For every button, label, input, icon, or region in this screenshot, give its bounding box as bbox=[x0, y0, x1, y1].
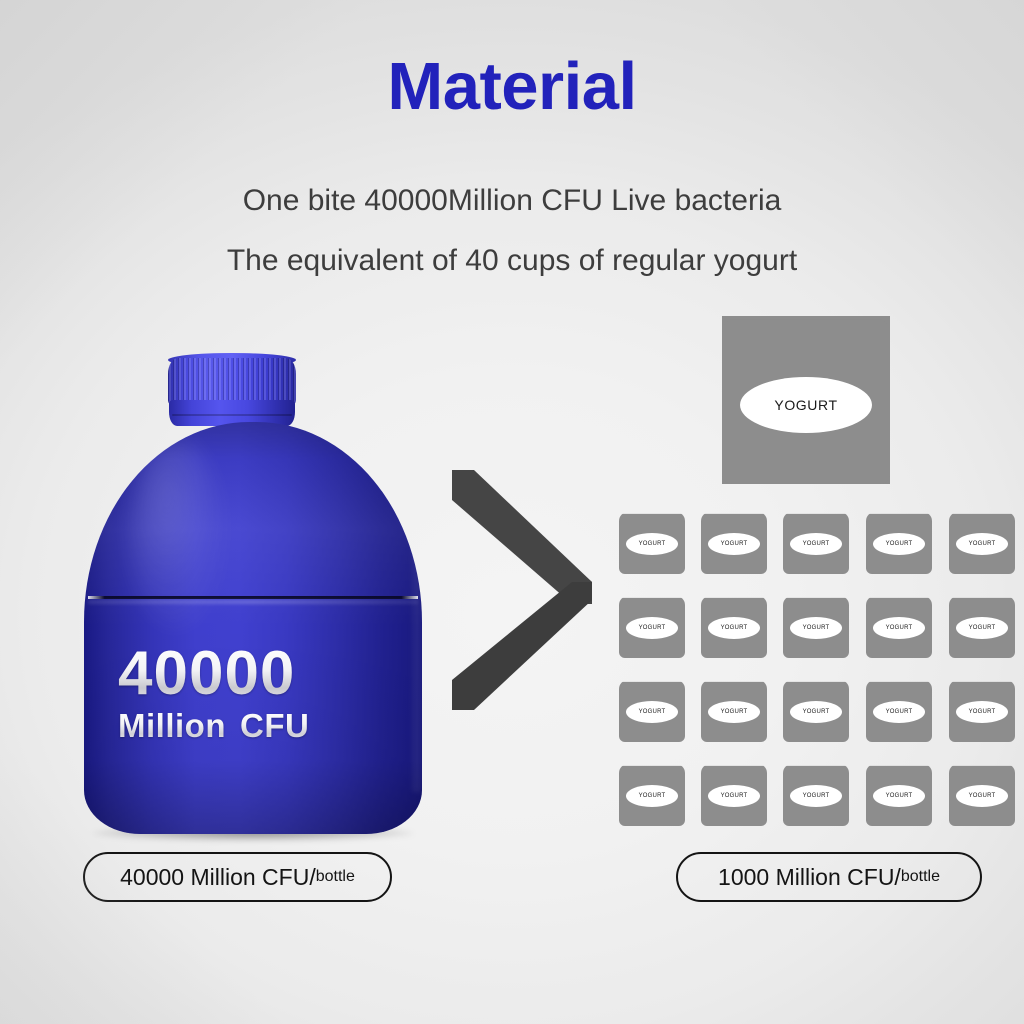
yogurt-cup-label-text: YOGURT bbox=[803, 793, 830, 799]
yogurt-cup-label-oval: YOGURT bbox=[708, 701, 760, 723]
yogurt-cup-small: YOGURT bbox=[783, 512, 849, 574]
yogurt-cup-label-text: YOGURT bbox=[721, 793, 748, 799]
yogurt-cup-label-text: YOGURT bbox=[774, 397, 837, 413]
yogurt-cup-small: YOGURT bbox=[949, 680, 1015, 742]
yogurt-cup-label-text: YOGURT bbox=[969, 709, 996, 715]
bottle-cap-ribbed bbox=[168, 358, 296, 406]
yogurt-cup-label-oval: YOGURT bbox=[626, 617, 678, 639]
yogurt-cup-small: YOGURT bbox=[949, 596, 1015, 658]
yogurt-cup-label-text: YOGURT bbox=[639, 625, 666, 631]
yogurt-cup-label-oval: YOGURT bbox=[956, 785, 1008, 807]
yogurt-cup-label-text: YOGURT bbox=[969, 625, 996, 631]
yogurt-cup-label-text: YOGURT bbox=[639, 709, 666, 715]
yogurt-cup-label-oval: YOGURT bbox=[708, 785, 760, 807]
caption-right-unit: bottle bbox=[901, 868, 940, 886]
yogurt-cup-label-text: YOGURT bbox=[721, 709, 748, 715]
yogurt-cup-label-oval: YOGURT bbox=[626, 701, 678, 723]
bottle-seam-gloss bbox=[88, 600, 418, 604]
subtitle-line-1: One bite 40000Million CFU Live bacteria bbox=[0, 186, 1024, 216]
yogurt-cup-label-oval: YOGURT bbox=[873, 701, 925, 723]
yogurt-cup-small: YOGURT bbox=[866, 764, 932, 826]
bottle-right-rim-highlight bbox=[410, 462, 420, 792]
yogurt-cup-label-text: YOGURT bbox=[721, 625, 748, 631]
yogurt-cup-small: YOGURT bbox=[701, 680, 767, 742]
yogurt-cup-small: YOGURT bbox=[619, 764, 685, 826]
yogurt-cup-label-text: YOGURT bbox=[721, 541, 748, 547]
yogurt-cup-small: YOGURT bbox=[619, 680, 685, 742]
yogurt-cup-label-oval: YOGURT bbox=[790, 533, 842, 555]
yogurt-cup-small: YOGURT bbox=[619, 596, 685, 658]
bottle-label: 40000 MillionCFU bbox=[118, 644, 368, 742]
caption-right-value: 1000 Million CFU/ bbox=[718, 864, 901, 891]
yogurt-cup-small: YOGURT bbox=[866, 680, 932, 742]
probiotic-bottle-image: 40000 MillionCFU bbox=[84, 356, 422, 834]
yogurt-cup-label-oval: YOGURT bbox=[873, 785, 925, 807]
bottle-label-million: Million bbox=[118, 707, 226, 744]
bottle-collar-groove bbox=[172, 414, 292, 416]
yogurt-cup-grid: YOGURT YOGURT YOGURT YOGURT YOGURT YOGUR… bbox=[619, 512, 1015, 830]
yogurt-cup-label-oval: YOGURT bbox=[790, 617, 842, 639]
yogurt-cup-small: YOGURT bbox=[783, 596, 849, 658]
yogurt-cup-label-text: YOGURT bbox=[886, 541, 913, 547]
yogurt-cup-small: YOGURT bbox=[866, 596, 932, 658]
yogurt-cup-small: YOGURT bbox=[949, 764, 1015, 826]
caption-badge-yogurt: 1000 Million CFU/bottle bbox=[676, 852, 982, 902]
yogurt-cup-label-oval: YOGURT bbox=[956, 533, 1008, 555]
yogurt-cup-label-text: YOGURT bbox=[803, 709, 830, 715]
yogurt-cup-label-text: YOGURT bbox=[639, 541, 666, 547]
yogurt-cup-label-oval: YOGURT bbox=[873, 617, 925, 639]
yogurt-cup-label-text: YOGURT bbox=[969, 541, 996, 547]
bottle-seam-line bbox=[88, 596, 418, 599]
yogurt-cup-small: YOGURT bbox=[619, 512, 685, 574]
yogurt-cup-label-oval: YOGURT bbox=[956, 701, 1008, 723]
yogurt-cup-label-oval: YOGURT bbox=[740, 377, 872, 433]
greater-than-chevron-icon bbox=[452, 470, 592, 710]
bottle-label-number: 40000 bbox=[118, 644, 368, 705]
yogurt-cup-small: YOGURT bbox=[783, 680, 849, 742]
yogurt-cup-label-oval: YOGURT bbox=[790, 785, 842, 807]
yogurt-cup-label-text: YOGURT bbox=[803, 625, 830, 631]
yogurt-cup-label-oval: YOGURT bbox=[708, 617, 760, 639]
yogurt-cup-small: YOGURT bbox=[701, 764, 767, 826]
yogurt-cup-label-oval: YOGURT bbox=[873, 533, 925, 555]
yogurt-cup-small: YOGURT bbox=[701, 512, 767, 574]
yogurt-cup-label-text: YOGURT bbox=[969, 793, 996, 799]
yogurt-cup-label-text: YOGURT bbox=[886, 793, 913, 799]
caption-left-unit: bottle bbox=[316, 868, 355, 886]
page-title: Material bbox=[0, 53, 1024, 120]
yogurt-cup-small: YOGURT bbox=[701, 596, 767, 658]
yogurt-cup-label-oval: YOGURT bbox=[626, 533, 678, 555]
yogurt-cup-label-oval: YOGURT bbox=[790, 701, 842, 723]
yogurt-cup-small: YOGURT bbox=[783, 764, 849, 826]
yogurt-cup-label-text: YOGURT bbox=[639, 793, 666, 799]
yogurt-cup-label-text: YOGURT bbox=[803, 541, 830, 547]
caption-left-value: 40000 Million CFU/ bbox=[120, 864, 316, 891]
subtitle-line-2: The equivalent of 40 cups of regular yog… bbox=[0, 246, 1024, 276]
yogurt-cup-label-text: YOGURT bbox=[886, 709, 913, 715]
yogurt-cup-small: YOGURT bbox=[866, 512, 932, 574]
yogurt-cup-label-oval: YOGURT bbox=[956, 617, 1008, 639]
yogurt-cup-label-oval: YOGURT bbox=[626, 785, 678, 807]
bottle-body bbox=[84, 422, 422, 834]
bottle-label-unit: MillionCFU bbox=[118, 709, 368, 742]
yogurt-cup-large: YOGURT bbox=[722, 316, 890, 484]
caption-badge-bottle: 40000 Million CFU/bottle bbox=[83, 852, 392, 902]
bottle-label-cfu: CFU bbox=[240, 707, 309, 744]
yogurt-cup-label-oval: YOGURT bbox=[708, 533, 760, 555]
yogurt-cup-label-text: YOGURT bbox=[886, 625, 913, 631]
yogurt-cup-small: YOGURT bbox=[949, 512, 1015, 574]
infographic-canvas: Material One bite 40000Million CFU Live … bbox=[0, 0, 1024, 1024]
